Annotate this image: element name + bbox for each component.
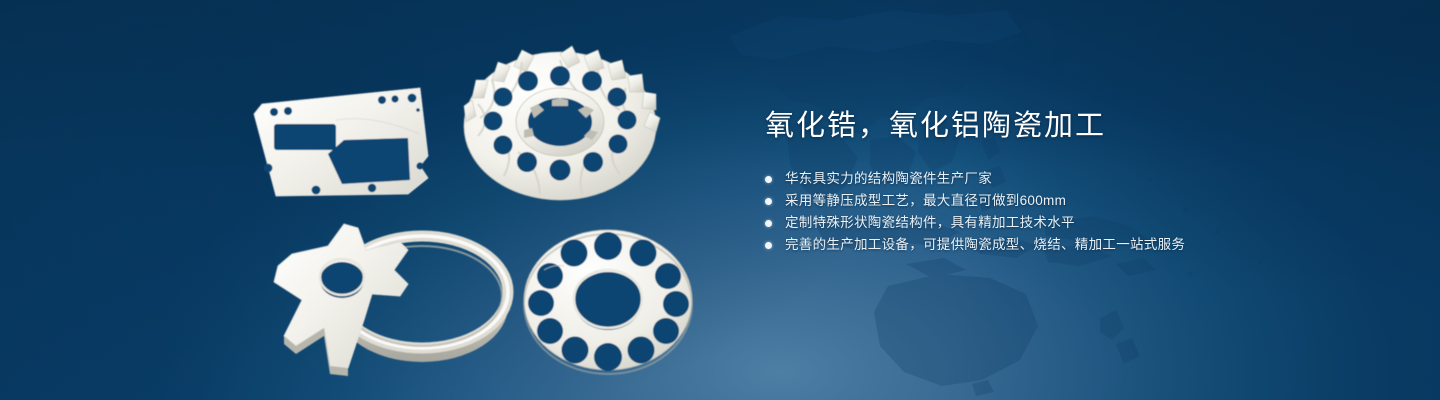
list-item: 采用等静压成型工艺，最大直径可做到600mm	[765, 190, 1385, 212]
list-item-label: 定制特殊形状陶瓷结构件，具有精加工技术水平	[785, 212, 1075, 234]
list-item: 完善的生产加工设备，可提供陶瓷成型、烧结、精加工一站式服务	[765, 234, 1385, 256]
ceramic-machined-plate	[254, 88, 428, 196]
ceramic-products-image	[232, 38, 732, 378]
list-item-label: 华东具实力的结构陶瓷件生产厂家	[785, 168, 992, 190]
bullet-dot-icon	[765, 220, 772, 227]
bullet-dot-icon	[765, 198, 772, 205]
list-item-label: 采用等静压成型工艺，最大直径可做到600mm	[785, 190, 1066, 212]
ceramic-impeller-rotor	[464, 46, 660, 200]
hero-banner: 氧化锆，氧化铝陶瓷加工 华东具实力的结构陶瓷件生产厂家 采用等静压成型工艺，最大…	[0, 0, 1440, 400]
list-item: 定制特殊形状陶瓷结构件，具有精加工技术水平	[765, 212, 1385, 234]
banner-copy: 氧化锆，氧化铝陶瓷加工 华东具实力的结构陶瓷件生产厂家 采用等静压成型工艺，最大…	[765, 104, 1385, 256]
bullet-dot-icon	[765, 176, 772, 183]
list-item: 华东具实力的结构陶瓷件生产厂家	[765, 168, 1385, 190]
list-item-label: 完善的生产加工设备，可提供陶瓷成型、烧结、精加工一站式服务	[785, 234, 1185, 256]
feature-list: 华东具实力的结构陶瓷件生产厂家 采用等静压成型工艺，最大直径可做到600mm 定…	[765, 168, 1385, 256]
bullet-dot-icon	[765, 242, 772, 249]
ceramic-perforated-disc	[524, 230, 692, 374]
page-title: 氧化锆，氧化铝陶瓷加工	[765, 104, 1385, 148]
